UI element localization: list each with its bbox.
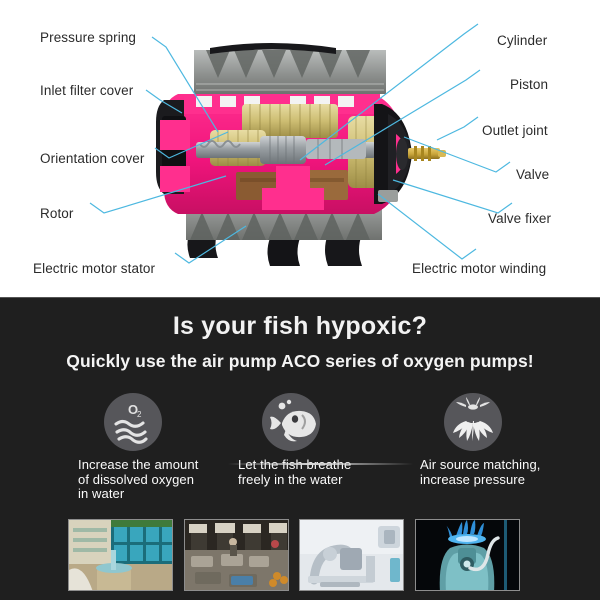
callout-outlet-joint: Outlet joint <box>482 124 548 138</box>
photo-strip <box>0 519 600 597</box>
callout-valve-fixer: Valve fixer <box>488 212 551 226</box>
feature-caption: Air source matching,increase pressure <box>420 458 600 487</box>
photo-aquarium-shop <box>68 519 173 591</box>
feature-fish-breathe: Let the fish breathefreely in the water <box>238 393 428 487</box>
callout-inlet-filter-cover: Inlet filter cover <box>40 84 133 98</box>
feature-row: O 2 Increase the amountof dissolved oxyg… <box>28 393 576 493</box>
leader-orientation-cover <box>155 132 228 158</box>
callout-valve: Valve <box>516 168 549 182</box>
leader-piston <box>325 70 480 165</box>
callout-rotor: Rotor <box>40 207 74 221</box>
callout-pressure-spring: Pressure spring <box>40 31 136 45</box>
feature-air-source: Air source matching,increase pressure <box>420 393 600 487</box>
leader-valve-fixer <box>393 180 512 213</box>
panel-divider <box>0 297 600 298</box>
o2-waves-icon: O 2 <box>104 393 162 451</box>
promo-subheadline: Quickly use the air pump ACO series of o… <box>0 351 600 372</box>
callout-orientation-cover: Orientation cover <box>40 152 145 166</box>
leader-electric-motor-stator <box>175 226 246 263</box>
promo-panel: Is your fish hypoxic? Quickly use the ai… <box>0 297 600 600</box>
callout-piston: Piston <box>510 78 548 92</box>
callout-cylinder: Cylinder <box>497 34 547 48</box>
promo-headline: Is your fish hypoxic? <box>0 312 600 341</box>
leader-outlet-joint <box>437 117 478 140</box>
photo-gas-burner <box>415 519 520 591</box>
leader-inlet-filter-cover <box>146 90 182 113</box>
leader-pressure-spring <box>152 37 218 132</box>
leader-rotor <box>90 176 226 213</box>
photo-medical-equipment <box>299 519 404 591</box>
fish-bubbles-icon <box>262 393 320 451</box>
o2-subscript: 2 <box>137 410 142 419</box>
leader-cylinder <box>300 24 478 160</box>
photo-fish-market <box>184 519 289 591</box>
pump-diagram-panel: Pressure springInlet filter coverOrienta… <box>0 0 600 297</box>
leader-valve <box>404 137 510 172</box>
callout-electric-motor-winding: Electric motor winding <box>412 262 546 276</box>
air-burst-icon <box>444 393 502 451</box>
product-infographic: Pressure springInlet filter coverOrienta… <box>0 0 600 600</box>
feature-divider <box>228 463 413 465</box>
callout-electric-motor-stator: Electric motor stator <box>33 262 155 276</box>
leader-electric-motor-winding <box>378 194 476 259</box>
